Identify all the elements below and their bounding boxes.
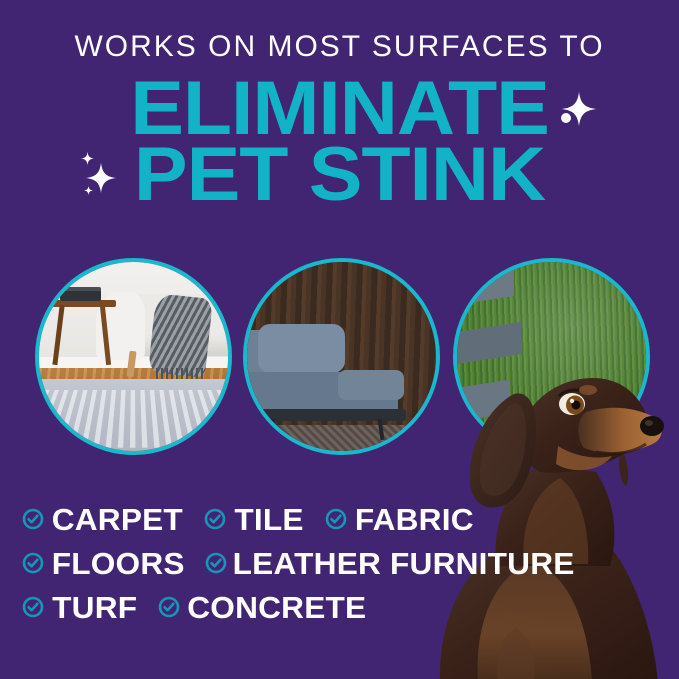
- photo-circle-fabric: [243, 258, 440, 455]
- ad-creative: WORKS ON MOST SURFACES TO ELIMINATE PET …: [0, 0, 679, 679]
- knit-throw-blanket: [148, 293, 213, 378]
- check-circle-icon: [22, 596, 44, 618]
- check-circle-icon: [325, 508, 347, 530]
- check-circle-icon: [22, 552, 44, 574]
- surface-label: LEATHER FURNITURE: [233, 548, 575, 579]
- surface-item-carpet: CARPET: [22, 504, 182, 535]
- surface-row-2: FLOORS LEATHER FURNITURE: [22, 541, 572, 585]
- floor-rug: [247, 425, 436, 451]
- surface-item-concrete: CONCRETE: [158, 592, 365, 623]
- check-circle-icon: [22, 508, 44, 530]
- surface-item-floors: FLOORS: [22, 548, 183, 579]
- surface-list: CARPET TILE FABRIC: [22, 497, 572, 629]
- sparkle-pet-small-b-icon: [84, 186, 93, 195]
- sofa-back-cushion-right: [258, 324, 345, 373]
- surface-label: FABRIC: [354, 504, 473, 535]
- surface-label: TILE: [234, 504, 303, 535]
- sparkle-pet-small-a-icon: [81, 152, 94, 165]
- surface-item-tile: TILE: [204, 504, 303, 535]
- sofa-chaise: [338, 370, 404, 400]
- area-rug: [39, 379, 228, 451]
- surface-item-leather-furniture: LEATHER FURNITURE: [205, 548, 571, 579]
- surface-item-fabric: FABRIC: [325, 504, 473, 535]
- books-stack: [60, 291, 102, 300]
- surface-item-turf: TURF: [22, 592, 136, 623]
- surface-label: CONCRETE: [188, 592, 367, 623]
- surface-row-3: TURF CONCRETE: [22, 585, 572, 629]
- surface-label: TURF: [52, 592, 137, 623]
- photo-circle-carpet: [35, 258, 232, 455]
- check-circle-icon: [158, 596, 180, 618]
- eyebrow-text: WORKS ON MOST SURFACES TO: [0, 32, 679, 62]
- sparkle-eliminate-dot-icon: [561, 113, 571, 123]
- surface-row-1: CARPET TILE FABRIC: [22, 497, 572, 541]
- surface-label: FLOORS: [52, 548, 185, 579]
- check-circle-icon: [204, 508, 226, 530]
- check-circle-icon: [205, 552, 227, 574]
- surface-label: CARPET: [52, 504, 183, 535]
